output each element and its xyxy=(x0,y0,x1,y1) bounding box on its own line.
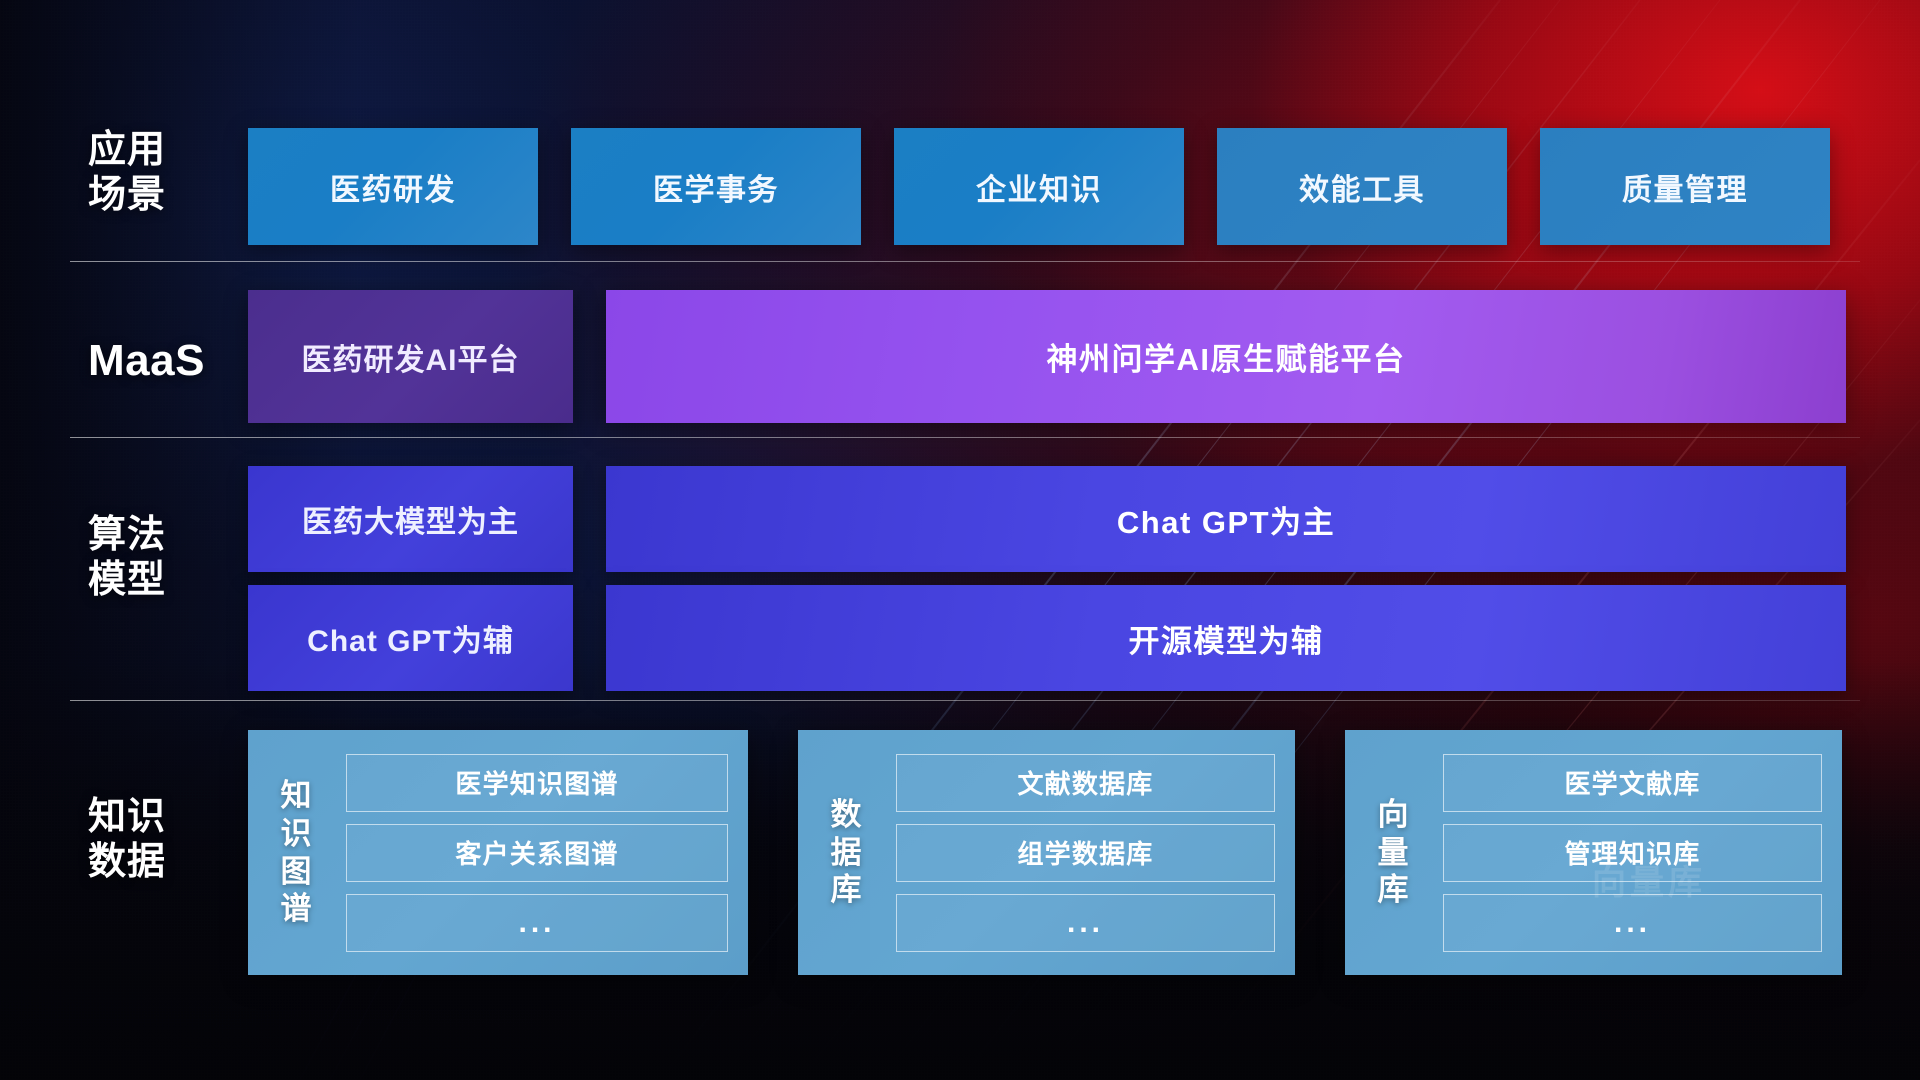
knowledge-item-more[interactable]: ... xyxy=(896,894,1275,952)
knowledge-group-items: 医学文献库 管理知识库 ... xyxy=(1425,744,1826,961)
application-scenario-card-list: 医药研发 医学事务 企业知识 效能工具 质量管理 xyxy=(248,128,1830,245)
knowledge-group-label-vector-store: 向量库 xyxy=(1361,744,1425,961)
maas-card-shenzhou-wenxue-platform[interactable]: 神州问学AI原生赋能平台 xyxy=(606,290,1846,423)
knowledge-item-management-knowledge-store[interactable]: 管理知识库 xyxy=(1443,824,1822,882)
row-label-knowledge-data: 知识 数据 xyxy=(88,795,238,885)
knowledge-item-customer-relation-graph[interactable]: 客户关系图谱 xyxy=(346,824,728,882)
maas-card-drug-rd-ai-platform[interactable]: 医药研发AI平台 xyxy=(248,290,573,423)
knowledge-item-medical-literature-store[interactable]: 医学文献库 xyxy=(1443,754,1822,812)
knowledge-item-literature-database[interactable]: 文献数据库 xyxy=(896,754,1275,812)
row-label-line-2: 场景 xyxy=(88,173,238,218)
app-card-drug-rd[interactable]: 医药研发 xyxy=(248,128,538,245)
divider-after-algorithm-models xyxy=(70,700,1860,701)
knowledge-group-label-database: 数据库 xyxy=(814,744,878,961)
knowledge-group-knowledge-graph: 知识图谱 医学知识图谱 客户关系图谱 ... xyxy=(248,730,748,975)
knowledge-group-items: 文献数据库 组学数据库 ... xyxy=(878,744,1279,961)
maas-layer: 医药研发AI平台 神州问学AI原生赋能平台 xyxy=(248,290,1846,423)
divider-after-application-scenarios xyxy=(70,261,1860,262)
slide-canvas: 应用 场景 医药研发 医学事务 企业知识 效能工具 质量管理 MaaS 医药研发… xyxy=(0,0,1920,1080)
knowledge-group-vector-store: 向量库 医学文献库 管理知识库 ... xyxy=(1345,730,1842,975)
knowledge-data-layer: 知识图谱 医学知识图谱 客户关系图谱 ... 数据库 文献数据库 组学数据库 .… xyxy=(248,730,1842,975)
row-label-line-1: 知识 xyxy=(88,795,238,840)
divider-after-maas xyxy=(70,437,1860,438)
algorithm-model-line-secondary: Chat GPT为辅 开源模型为辅 xyxy=(248,585,1846,691)
knowledge-item-omics-database[interactable]: 组学数据库 xyxy=(896,824,1275,882)
knowledge-item-medical-knowledge-graph[interactable]: 医学知识图谱 xyxy=(346,754,728,812)
knowledge-item-more[interactable]: ... xyxy=(1443,894,1822,952)
row-label-line-1: 应用 xyxy=(88,128,238,173)
algo-card-chatgpt-secondary[interactable]: Chat GPT为辅 xyxy=(248,585,573,691)
algorithm-model-layer: 医药大模型为主 Chat GPT为主 Chat GPT为辅 开源模型为辅 xyxy=(248,466,1846,691)
knowledge-group-database: 数据库 文献数据库 组学数据库 ... xyxy=(798,730,1295,975)
row-label-maas: MaaS xyxy=(88,335,238,387)
app-card-medical-affairs[interactable]: 医学事务 xyxy=(571,128,861,245)
app-card-enterprise-knowledge[interactable]: 企业知识 xyxy=(894,128,1184,245)
diagram-content: 应用 场景 医药研发 医学事务 企业知识 效能工具 质量管理 MaaS 医药研发… xyxy=(0,0,1920,1080)
row-label-line-2: 模型 xyxy=(88,558,238,603)
algo-card-chatgpt-primary[interactable]: Chat GPT为主 xyxy=(606,466,1846,572)
knowledge-item-more[interactable]: ... xyxy=(346,894,728,952)
row-label-line-1: 算法 xyxy=(88,513,238,558)
algo-card-drug-llm-primary[interactable]: 医药大模型为主 xyxy=(248,466,573,572)
knowledge-group-items: 医学知识图谱 客户关系图谱 ... xyxy=(328,744,732,961)
row-label-application-scenarios: 应用 场景 xyxy=(88,128,238,218)
algo-card-opensource-secondary[interactable]: 开源模型为辅 xyxy=(606,585,1846,691)
knowledge-group-label-knowledge-graph: 知识图谱 xyxy=(264,744,328,961)
row-label-line-2: 数据 xyxy=(88,840,238,885)
algorithm-model-line-primary: 医药大模型为主 Chat GPT为主 xyxy=(248,466,1846,572)
app-card-quality-management[interactable]: 质量管理 xyxy=(1540,128,1830,245)
app-card-efficiency-tools[interactable]: 效能工具 xyxy=(1217,128,1507,245)
row-label-algorithm-models: 算法 模型 xyxy=(88,513,238,603)
